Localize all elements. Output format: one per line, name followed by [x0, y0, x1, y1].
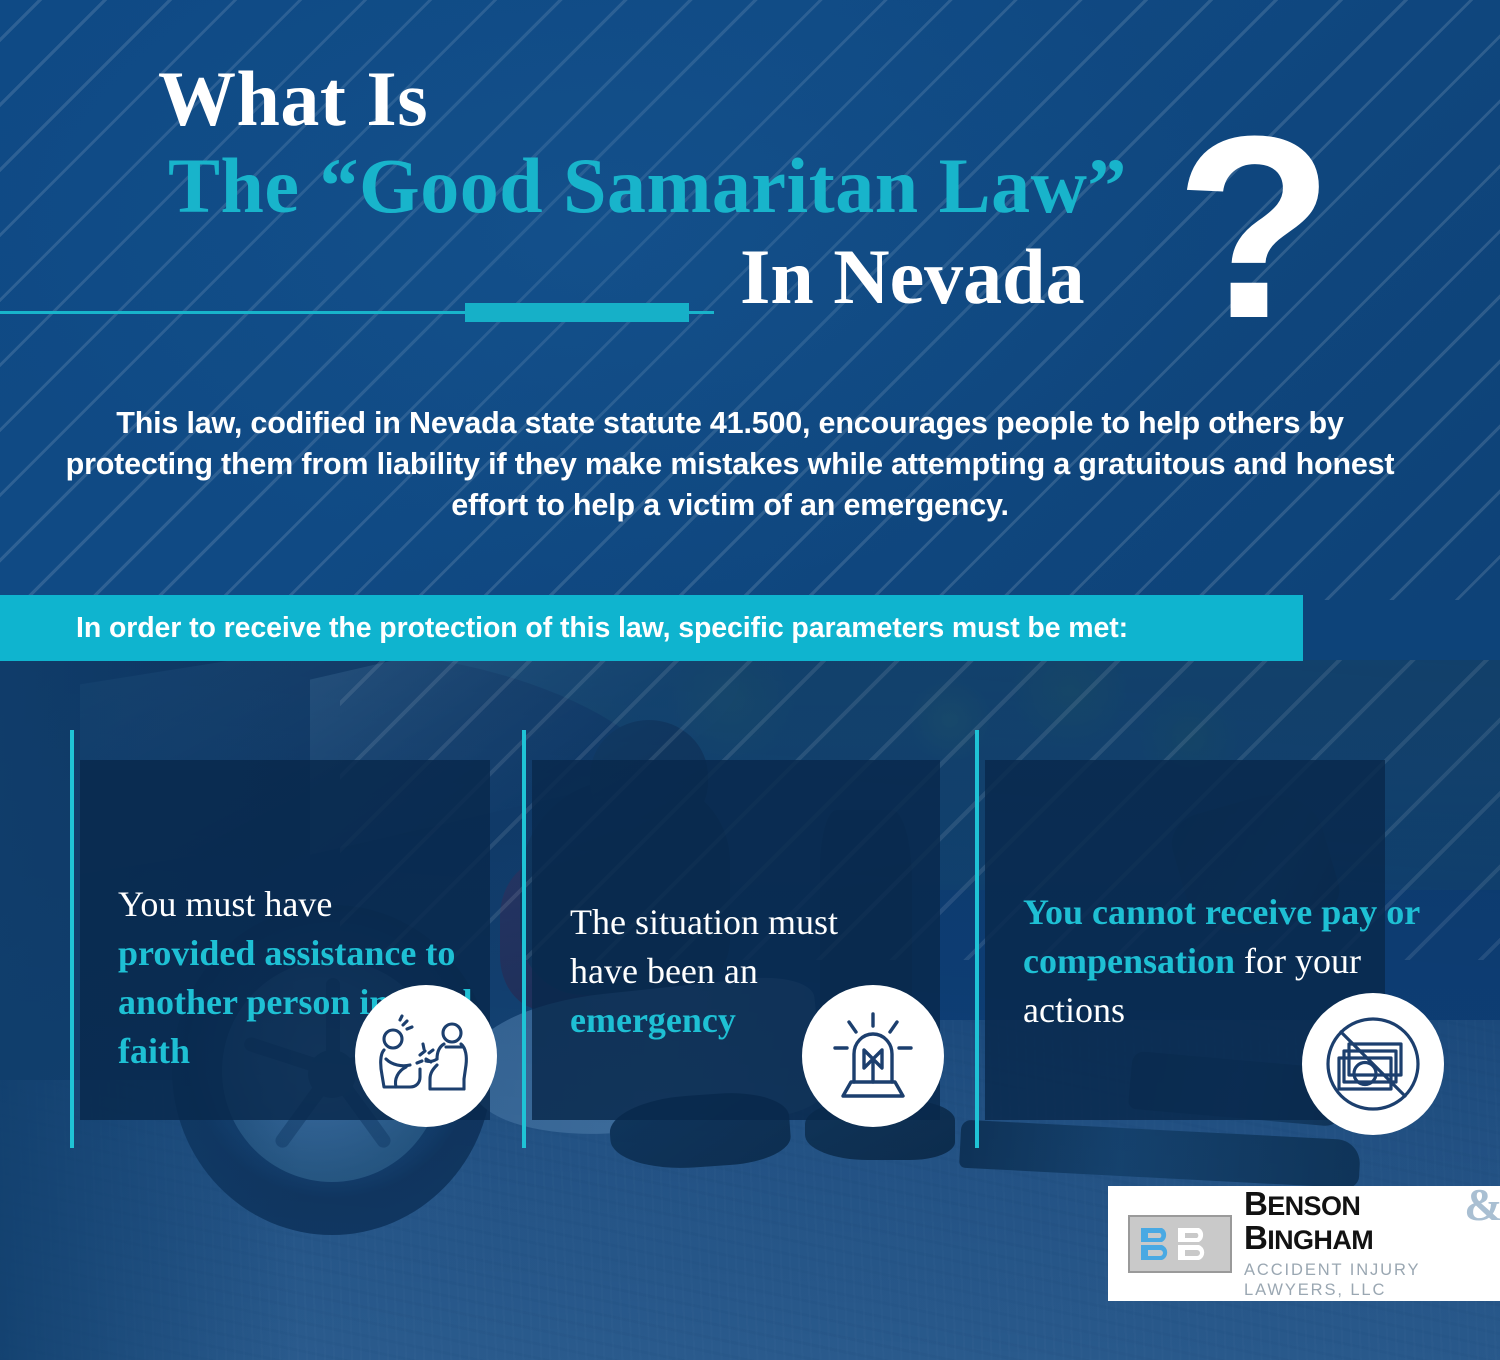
question-mark-icon: ? [1175, 98, 1334, 358]
logo-wordmark: BENSON& BINGHAM ACCIDENT INJURY LAWYERS,… [1244, 1188, 1500, 1300]
no-cash-glyph [1320, 1011, 1426, 1117]
card-accent-line [975, 730, 979, 1148]
card-text-highlight: emergency [570, 1000, 736, 1040]
parameters-banner: In order to receive the protection of th… [0, 595, 1303, 661]
card-accent-line [70, 730, 74, 1148]
card-text-plain: You must have [118, 884, 332, 924]
bb-monogram-glyph [1138, 1224, 1222, 1264]
infographic-root: What Is The “Good Samaritan Law” In Neva… [0, 0, 1500, 1360]
card-text-plain: The situation must have been an [570, 902, 838, 991]
benson-bingham-logo: BENSON& BINGHAM ACCIDENT INJURY LAWYERS,… [1108, 1186, 1500, 1301]
no-money-icon [1302, 993, 1444, 1135]
logo-tagline: ACCIDENT INJURY LAWYERS, LLC [1244, 1260, 1500, 1300]
logo-benson-text: BENSON [1244, 1185, 1360, 1222]
helping-hand-glyph [376, 1013, 476, 1099]
card-accent-line [522, 730, 526, 1148]
siren-glyph [825, 1010, 921, 1102]
logo-line-bingham: BINGHAM [1244, 1222, 1500, 1256]
first-aid-helping-person-icon [355, 985, 497, 1127]
emergency-siren-icon [802, 985, 944, 1127]
lead-paragraph: This law, codified in Nevada state statu… [60, 403, 1400, 526]
parameters-banner-text: In order to receive the protection of th… [0, 612, 1128, 645]
bb-monogram-icon [1128, 1215, 1232, 1273]
logo-line-benson: BENSON& [1244, 1188, 1500, 1222]
